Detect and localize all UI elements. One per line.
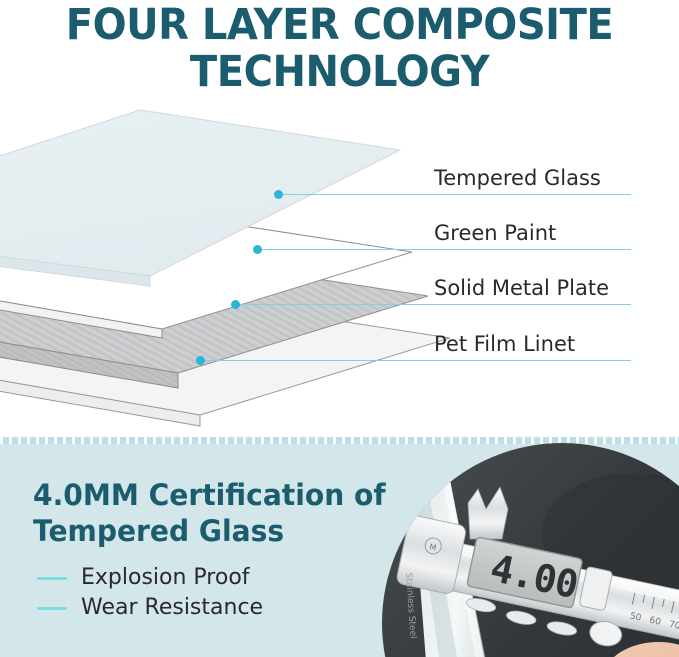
layer-label-tempered-glass: Tempered Glass (434, 168, 601, 189)
layer-label-green-paint: Green Paint (434, 223, 556, 244)
feature-label: Explosion Proof (81, 566, 250, 590)
layer-stack-diagram (0, 70, 450, 437)
dash-bullet-icon (37, 607, 67, 610)
dash-bullet-icon (37, 577, 67, 580)
infographic-root: FOUR LAYER COMPOSITE TECHNOLOGY (0, 0, 679, 657)
list-item: Explosion Proof (37, 563, 367, 593)
list-item: Wear Resistance (37, 593, 367, 623)
feature-label: Wear Resistance (81, 596, 263, 620)
panel-heading: 4.0MM Certification of Tempered Glass (33, 477, 421, 549)
leader-dot-solid-metal-plate (231, 300, 240, 309)
leader-dot-pet-film-linet (196, 356, 205, 365)
leader-line-pet-film-linet (205, 360, 631, 361)
layer-label-pet-film-linet: Pet Film Linet (434, 334, 575, 355)
feature-list: Explosion Proof Wear Resistance (37, 563, 367, 623)
leader-dot-tempered-glass (274, 190, 283, 199)
leader-line-green-paint (262, 249, 631, 250)
leader-line-solid-metal-plate (240, 304, 631, 305)
layer-label-solid-metal-plate: Solid Metal Plate (434, 278, 609, 299)
layer-technology-section: FOUR LAYER COMPOSITE TECHNOLOGY (0, 0, 679, 437)
leader-dot-green-paint (253, 245, 262, 254)
leader-line-tempered-glass (283, 194, 631, 195)
